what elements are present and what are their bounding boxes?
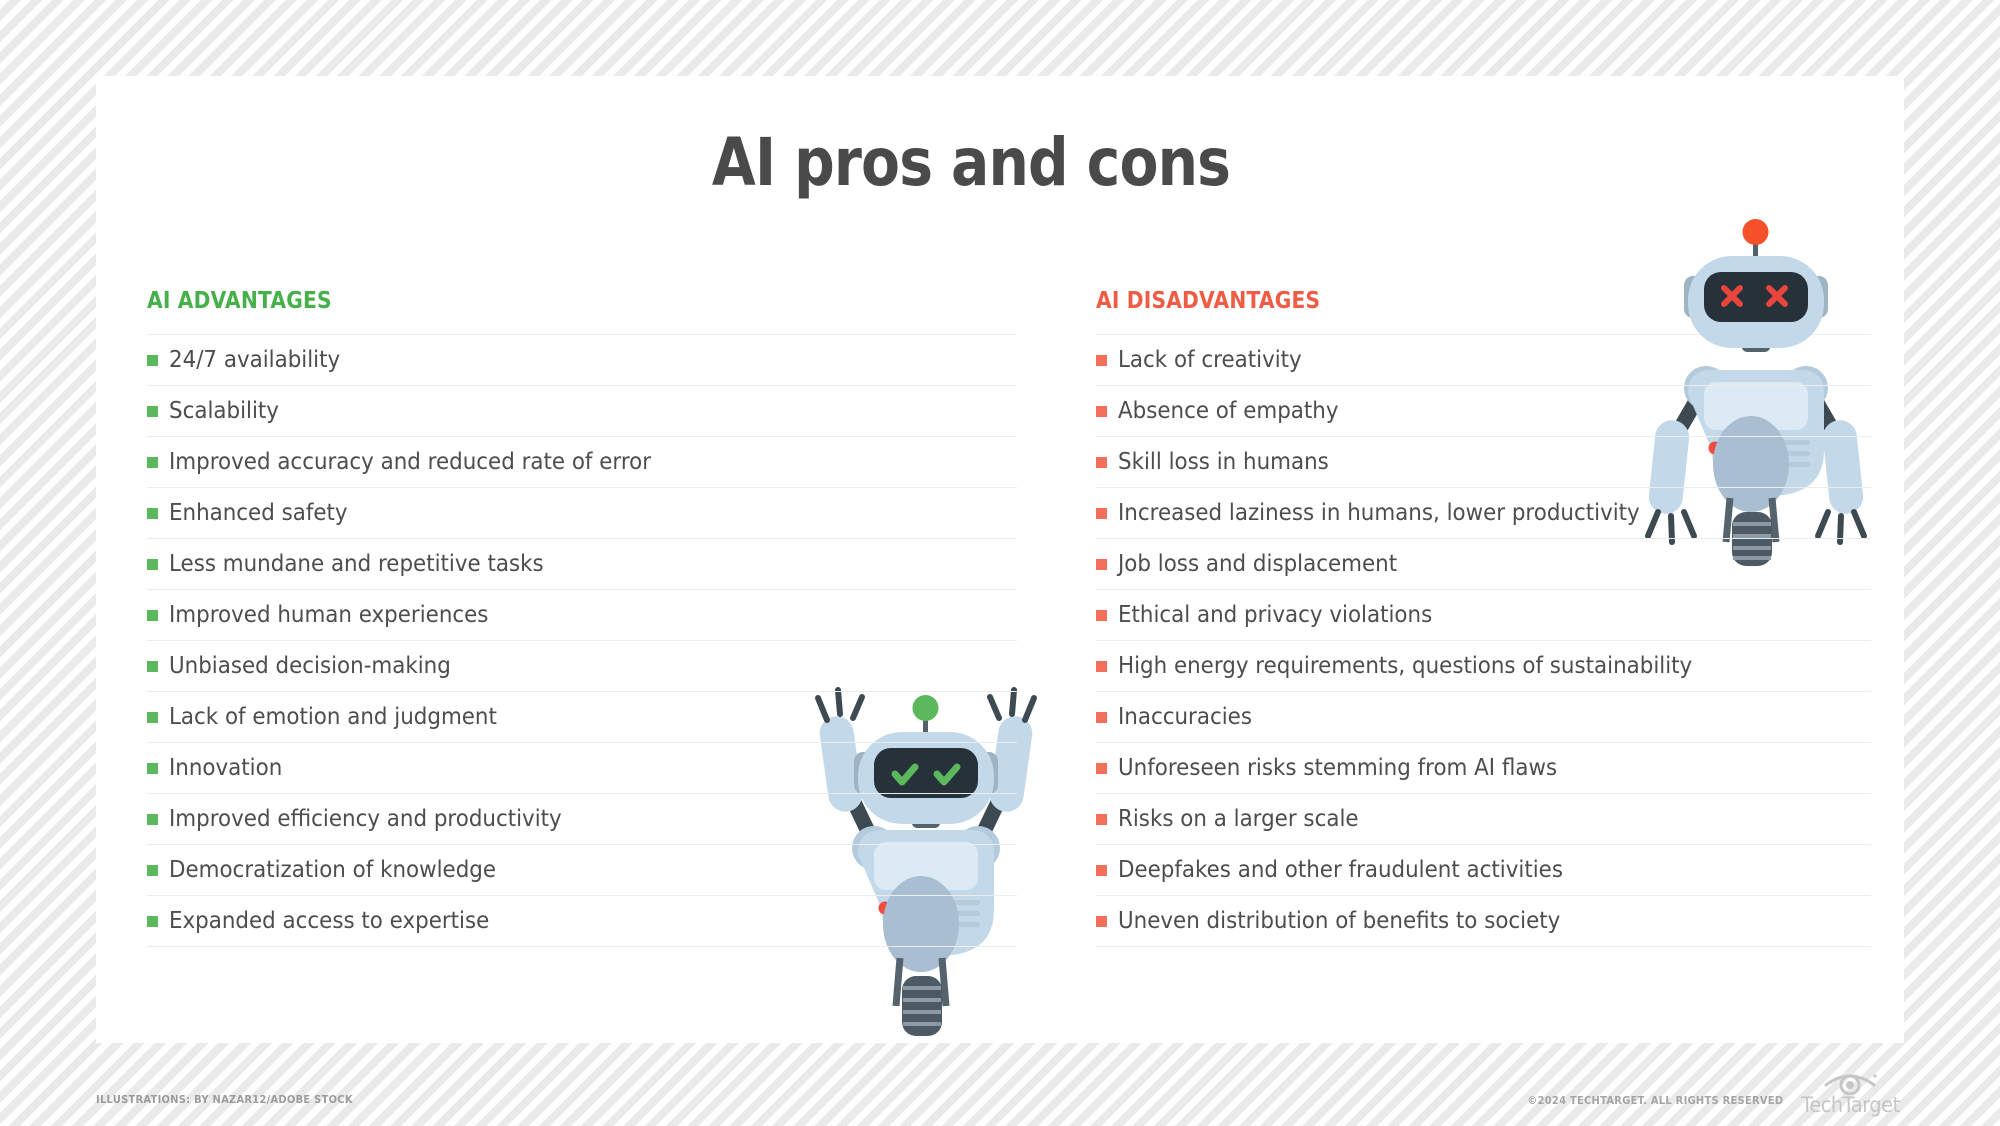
bullet-square-icon <box>147 661 158 672</box>
list-item: Lack of emotion and judgment <box>147 692 1017 743</box>
bullet-square-icon <box>1096 355 1107 366</box>
disadvantage-text: Unforeseen risks stemming from AI flaws <box>1118 755 1557 781</box>
disadvantage-text: Uneven distribution of benefits to socie… <box>1118 908 1560 934</box>
bullet-square-icon <box>1096 865 1107 876</box>
bullet-square-icon <box>1096 661 1107 672</box>
list-item: Deepfakes and other fraudulent activitie… <box>1096 845 1871 896</box>
disadvantage-text: Increased laziness in humans, lower prod… <box>1118 500 1640 526</box>
bullet-square-icon <box>147 508 158 519</box>
disadvantage-text: Risks on a larger scale <box>1118 806 1359 832</box>
list-item: Unbiased decision-making <box>147 641 1017 692</box>
disadvantage-text: Deepfakes and other fraudulent activitie… <box>1118 857 1563 883</box>
list-item: Unforeseen risks stemming from AI flaws <box>1096 743 1871 794</box>
infographic-card: AI pros and cons AI ADVANTAGES 24/7 avai… <box>96 76 1904 1043</box>
list-item: Improved efficiency and productivity <box>147 794 1017 845</box>
bullet-square-icon <box>147 406 158 417</box>
bullet-square-icon <box>147 865 158 876</box>
list-item: Absence of empathy <box>1096 386 1871 437</box>
disadvantage-text: Skill loss in humans <box>1118 449 1329 475</box>
list-item: Improved accuracy and reduced rate of er… <box>147 437 1017 488</box>
advantage-text: Lack of emotion and judgment <box>169 704 497 730</box>
advantage-text: 24/7 availability <box>169 347 340 373</box>
bullet-square-icon <box>1096 916 1107 927</box>
list-item: Inaccuracies <box>1096 692 1871 743</box>
advantage-text: Improved accuracy and reduced rate of er… <box>169 449 651 475</box>
list-item: Job loss and displacement <box>1096 539 1871 590</box>
advantages-column: AI ADVANTAGES 24/7 availability Scalabil… <box>147 288 1017 947</box>
page-title: AI pros and cons <box>219 124 1724 201</box>
disadvantage-text: Ethical and privacy violations <box>1118 602 1432 628</box>
bullet-square-icon <box>147 457 158 468</box>
bullet-square-icon <box>147 355 158 366</box>
list-item: Ethical and privacy violations <box>1096 590 1871 641</box>
bullet-square-icon <box>147 814 158 825</box>
advantage-text: Scalability <box>169 398 279 424</box>
bullet-square-icon <box>147 610 158 621</box>
bullet-square-icon <box>1096 610 1107 621</box>
bullet-square-icon <box>1096 406 1107 417</box>
advantage-text: Unbiased decision-making <box>169 653 451 679</box>
bullet-square-icon <box>147 559 158 570</box>
list-item: Enhanced safety <box>147 488 1017 539</box>
techtarget-logo: TechTarget <box>1797 1069 1904 1116</box>
list-item: Uneven distribution of benefits to socie… <box>1096 896 1871 947</box>
list-item: Improved human experiences <box>147 590 1017 641</box>
list-item: Expanded access to expertise <box>147 896 1017 947</box>
bullet-square-icon <box>1096 508 1107 519</box>
copyright-text: ©2024 TECHTARGET. ALL RIGHTS RESERVED <box>1527 1094 1783 1107</box>
disadvantages-list: Lack of creativity Absence of empathy Sk… <box>1096 334 1871 947</box>
disadvantage-text: Job loss and displacement <box>1118 551 1397 577</box>
list-item: Less mundane and repetitive tasks <box>147 539 1017 590</box>
disadvantages-column: AI DISADVANTAGES Lack of creativity Abse… <box>1096 288 1871 947</box>
advantage-text: Improved efficiency and productivity <box>169 806 562 832</box>
list-item: Scalability <box>147 386 1017 437</box>
advantage-text: Expanded access to expertise <box>169 908 489 934</box>
footer-brand-area: ©2024 TECHTARGET. ALL RIGHTS RESERVED Te… <box>1499 1085 1904 1116</box>
advantage-text: Innovation <box>169 755 282 781</box>
list-item: Innovation <box>147 743 1017 794</box>
disadvantages-heading: AI DISADVANTAGES <box>1096 288 1778 316</box>
list-item: High energy requirements, questions of s… <box>1096 641 1871 692</box>
bullet-square-icon <box>147 916 158 927</box>
bullet-square-icon <box>1096 763 1107 774</box>
list-item: Democratization of knowledge <box>147 845 1017 896</box>
disadvantage-text: Lack of creativity <box>1118 347 1302 373</box>
disadvantage-text: Absence of empathy <box>1118 398 1338 424</box>
disadvantage-text: Inaccuracies <box>1118 704 1252 730</box>
advantage-text: Improved human experiences <box>169 602 488 628</box>
bullet-square-icon <box>1096 457 1107 468</box>
list-item: Increased laziness in humans, lower prod… <box>1096 488 1871 539</box>
list-item: 24/7 availability <box>147 335 1017 386</box>
advantage-text: Less mundane and repetitive tasks <box>169 551 544 577</box>
advantages-heading: AI ADVANTAGES <box>147 288 913 316</box>
list-item: Risks on a larger scale <box>1096 794 1871 845</box>
advantage-text: Enhanced safety <box>169 500 348 526</box>
bullet-square-icon <box>1096 814 1107 825</box>
bullet-square-icon <box>1096 712 1107 723</box>
list-item: Lack of creativity <box>1096 335 1871 386</box>
antenna-light-red <box>1743 219 1769 245</box>
two-column-layout: AI ADVANTAGES 24/7 availability Scalabil… <box>96 288 1904 947</box>
list-item: Skill loss in humans <box>1096 437 1871 488</box>
advantages-list: 24/7 availability Scalability Improved a… <box>147 334 1017 947</box>
disadvantage-text: High energy requirements, questions of s… <box>1118 653 1692 679</box>
bullet-square-icon <box>1096 559 1107 570</box>
advantage-text: Democratization of knowledge <box>169 857 496 883</box>
eye-icon <box>1822 1069 1878 1095</box>
bullet-square-icon <box>147 712 158 723</box>
bullet-square-icon <box>147 763 158 774</box>
techtarget-wordmark: TechTarget <box>1801 1095 1899 1116</box>
illustration-credit: ILLUSTRATIONS: BY NAZAR12/ADOBE STOCK <box>96 1093 353 1106</box>
